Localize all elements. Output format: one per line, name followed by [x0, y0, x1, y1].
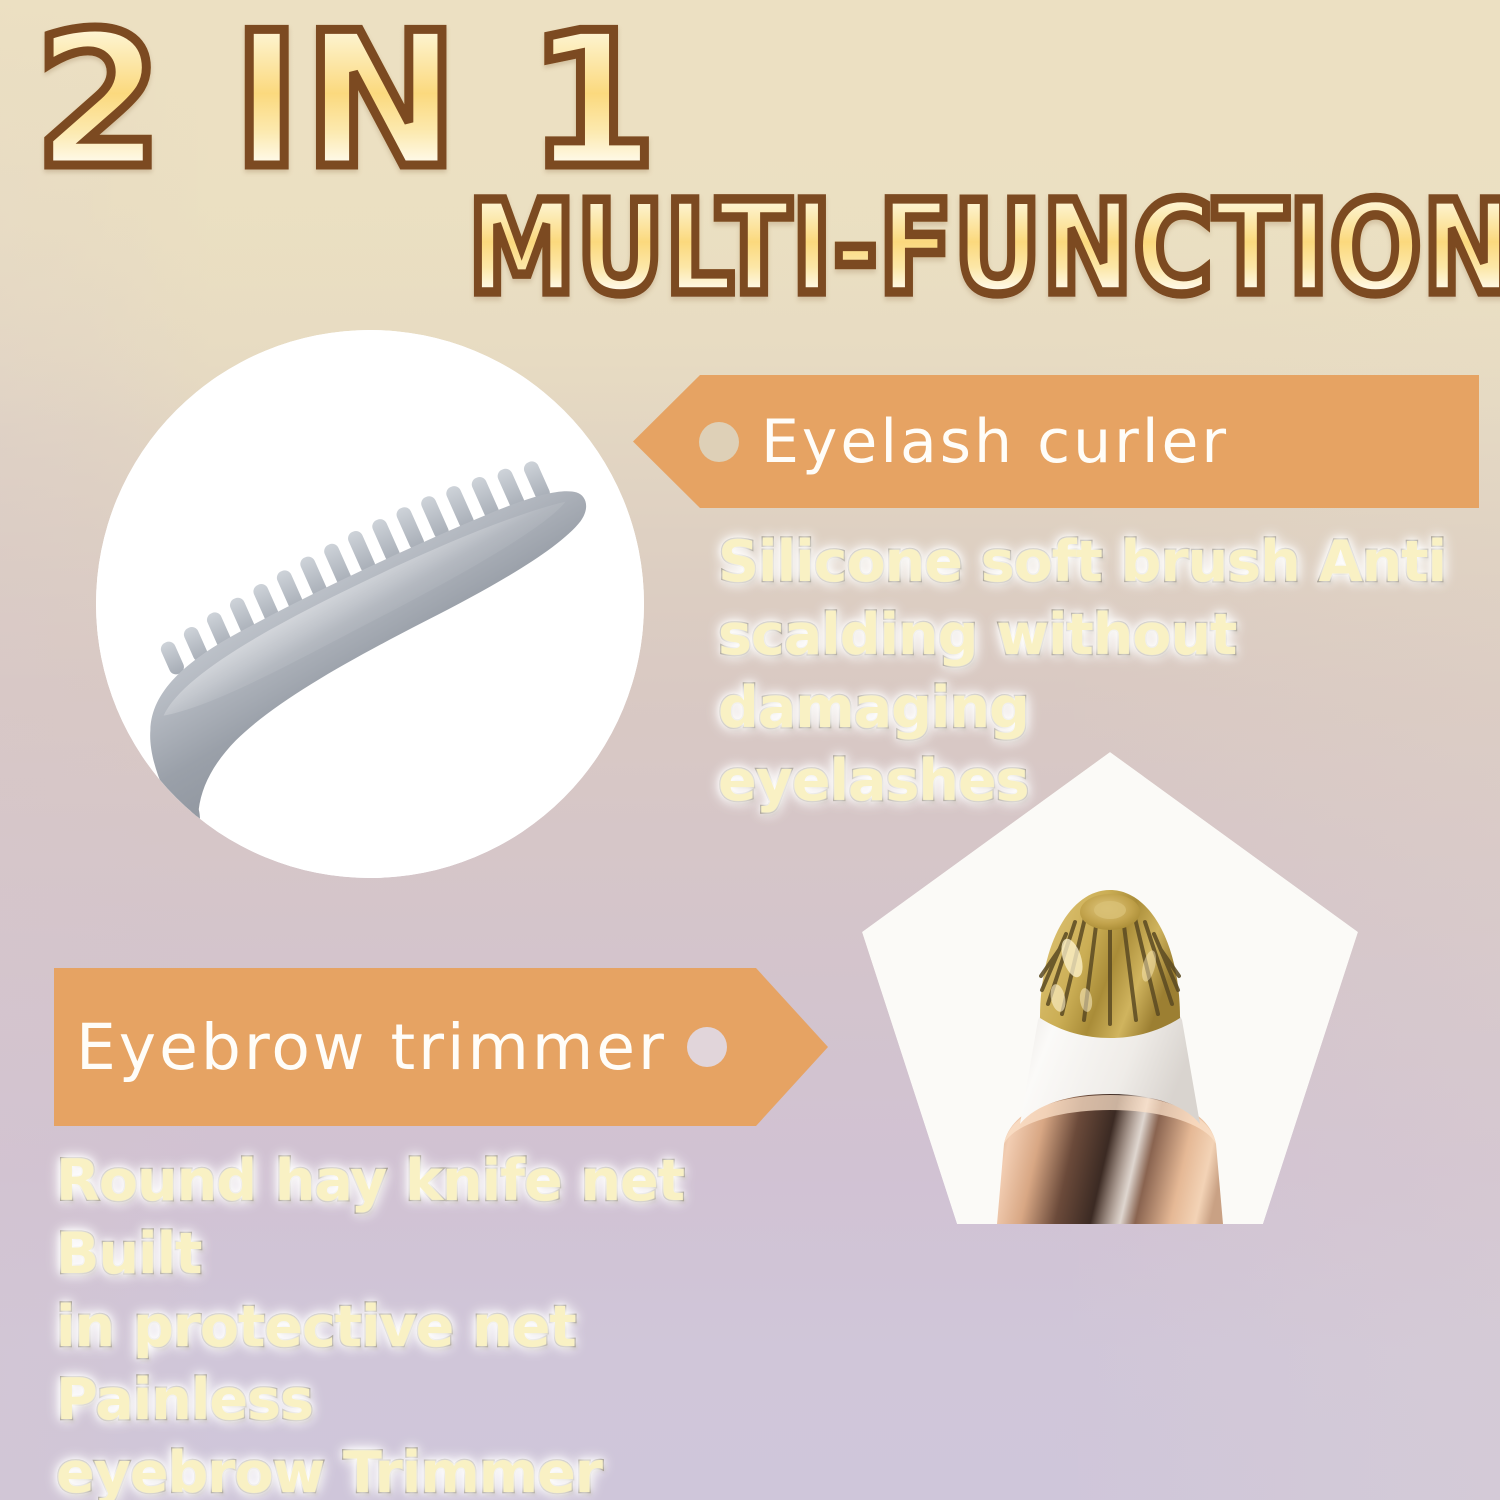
silicone-comb-illustration [96, 330, 644, 878]
feature-tag-label: Eyebrow trimmer [76, 1016, 667, 1079]
feature-tag-eyebrow-trimmer[interactable]: Eyebrow trimmer [54, 968, 828, 1126]
description-line: in protective net Painless [56, 1291, 816, 1437]
description-line: eyelashes [718, 745, 1478, 818]
feature-tag-label: Eyelash curler [761, 412, 1229, 472]
description-line: eyebrow Trimmer [56, 1437, 816, 1500]
headline-multi-function: MULTI-FUNCTION [468, 186, 1500, 313]
silicone-comb-brush-photo [96, 330, 644, 878]
trimmer-head-illustration [862, 752, 1358, 1304]
description-line: scalding without damaging [718, 599, 1478, 745]
feature-tag-eyelash-curler[interactable]: Eyelash curler [633, 375, 1479, 508]
product-feature-poster: 2 IN 1 MULTI-FUNCTION [0, 0, 1500, 1500]
headline-2-in-1: 2 IN 1 [34, 8, 659, 194]
feature-description-eyebrow-trimmer: Round hay knife net Built in protective … [56, 1145, 816, 1500]
description-line: Silicone soft brush Anti [718, 526, 1478, 599]
tag-hole-icon [699, 422, 739, 462]
description-line: Round hay knife net Built [56, 1145, 816, 1291]
tag-hole-icon [687, 1027, 727, 1067]
gold-trimmer-head-photo [862, 752, 1358, 1304]
feature-description-eyelash-curler: Silicone soft brush Anti scalding withou… [718, 526, 1478, 818]
headline-block: 2 IN 1 MULTI-FUNCTION [0, 0, 1500, 320]
